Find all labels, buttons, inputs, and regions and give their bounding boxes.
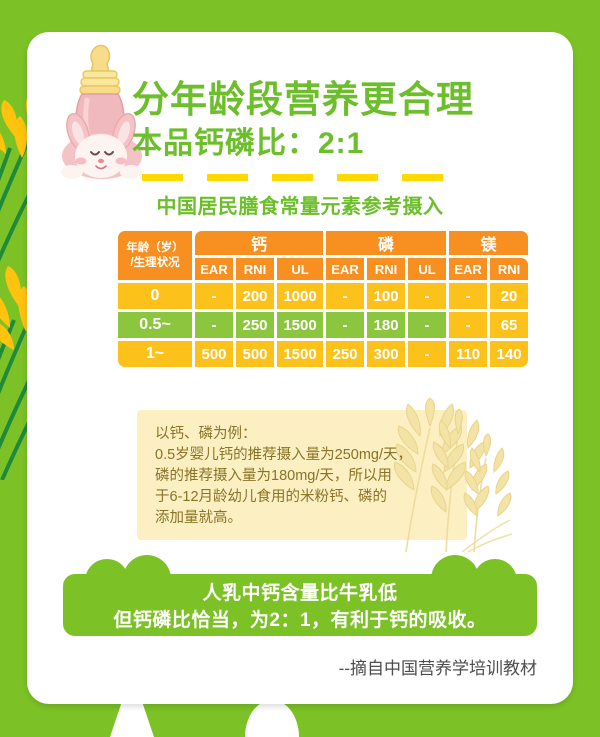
cell-磷-RNI: 180 [367, 312, 405, 338]
cell-钙-RNI: 250 [236, 312, 274, 338]
col-header-磷-RNI: RNI [367, 258, 405, 280]
col-header-钙-RNI: RNI [236, 258, 274, 280]
group-header-phosphorus: 磷 [326, 231, 446, 255]
citation-text: --摘自中国营养学培训教材 [27, 654, 537, 679]
age-header-line: /生理状况 [118, 256, 192, 271]
cell-镁-RNI: 20 [490, 283, 528, 309]
headline-block: 分年龄段营养更合理 本品钙磷比：2:1 [132, 78, 562, 164]
callout-banner: 人乳中钙含量比牛乳低 但钙磷比恰当，为2：1，有利于钙的吸收。 [63, 554, 537, 636]
cell-磷-UL: - [408, 283, 446, 309]
table-row: 1~5005001500250300-110140 [118, 341, 528, 367]
dashed-divider [142, 174, 464, 181]
col-header-钙-EAR: EAR [195, 258, 233, 280]
cell-钙-RNI: 500 [236, 341, 274, 367]
row-age-label: 1~ [118, 341, 192, 367]
group-header-magnesium: 镁 [449, 231, 528, 255]
cell-镁-EAR: 110 [449, 341, 487, 367]
table-head: 年龄（岁）/生理状况 钙 磷 镁 EARRNIULEARRNIULEARRNI [118, 231, 528, 280]
table-body: 0-2001000-100--200.5~-2501500-180--651~5… [118, 283, 528, 367]
callout-text: 人乳中钙含量比牛乳低 但钙磷比恰当，为2：1，有利于钙的吸收。 [63, 580, 537, 634]
page-subtitle: 本品钙磷比：2:1 [132, 124, 562, 164]
col-header-镁-EAR: EAR [449, 258, 487, 280]
table-row: 0-2001000-100--20 [118, 283, 528, 309]
cell-钙-EAR: 500 [195, 341, 233, 367]
cell-钙-EAR: - [195, 283, 233, 309]
nutrition-table-wrapper: 年龄（岁）/生理状况 钙 磷 镁 EARRNIULEARRNIULEARRNI … [115, 228, 490, 370]
cell-钙-UL: 1500 [277, 312, 323, 338]
cell-钙-UL: 1000 [277, 283, 323, 309]
cell-镁-RNI: 65 [490, 312, 528, 338]
page-title: 分年龄段营养更合理 [132, 78, 562, 122]
note-box-wrapper: 以钙、磷为例： 0.5岁婴儿钙的推荐摄入量为250mg/天， 磷的推荐摄入量为1… [137, 410, 467, 540]
cell-磷-RNI: 100 [367, 283, 405, 309]
col-header-磷-UL: UL [408, 258, 446, 280]
col-header-钙-UL: UL [277, 258, 323, 280]
age-header-cell: 年龄（岁）/生理状况 [118, 231, 192, 280]
cell-磷-UL: - [408, 341, 446, 367]
table-row: 0.5~-2501500-180--65 [118, 312, 528, 338]
col-header-镁-RNI: RNI [490, 258, 528, 280]
cell-磷-UL: - [408, 312, 446, 338]
table-group-header-row: 年龄（岁）/生理状况 钙 磷 镁 [118, 231, 528, 255]
nutrition-table: 年龄（岁）/生理状况 钙 磷 镁 EARRNIULEARRNIULEARRNI … [115, 228, 531, 370]
group-header-calcium: 钙 [195, 231, 323, 255]
cell-镁-EAR: - [449, 312, 487, 338]
row-age-label: 0 [118, 283, 192, 309]
cell-磷-RNI: 300 [367, 341, 405, 367]
header-section: 分年龄段营养更合理 本品钙磷比：2:1 [27, 32, 573, 210]
card-bottom-notch [245, 700, 299, 737]
cell-钙-UL: 1500 [277, 341, 323, 367]
cell-镁-EAR: - [449, 283, 487, 309]
note-text: 以钙、磷为例： 0.5岁婴儿钙的推荐摄入量为250mg/天， 磷的推荐摄入量为1… [155, 424, 455, 529]
cell-钙-RNI: 200 [236, 283, 274, 309]
cell-磷-EAR: - [326, 283, 364, 309]
table-caption: 中国居民膳食常量元素参考摄入 [27, 190, 573, 219]
content-card: 分年龄段营养更合理 本品钙磷比：2:1 中国居民膳食常量元素参考摄入 年龄（岁）… [27, 32, 573, 704]
cell-磷-EAR: 250 [326, 341, 364, 367]
row-age-label: 0.5~ [118, 312, 192, 338]
cell-钙-EAR: - [195, 312, 233, 338]
cell-镁-RNI: 140 [490, 341, 528, 367]
age-header-line: 年龄（岁） [118, 241, 192, 256]
col-header-磷-EAR: EAR [326, 258, 364, 280]
cell-磷-EAR: - [326, 312, 364, 338]
